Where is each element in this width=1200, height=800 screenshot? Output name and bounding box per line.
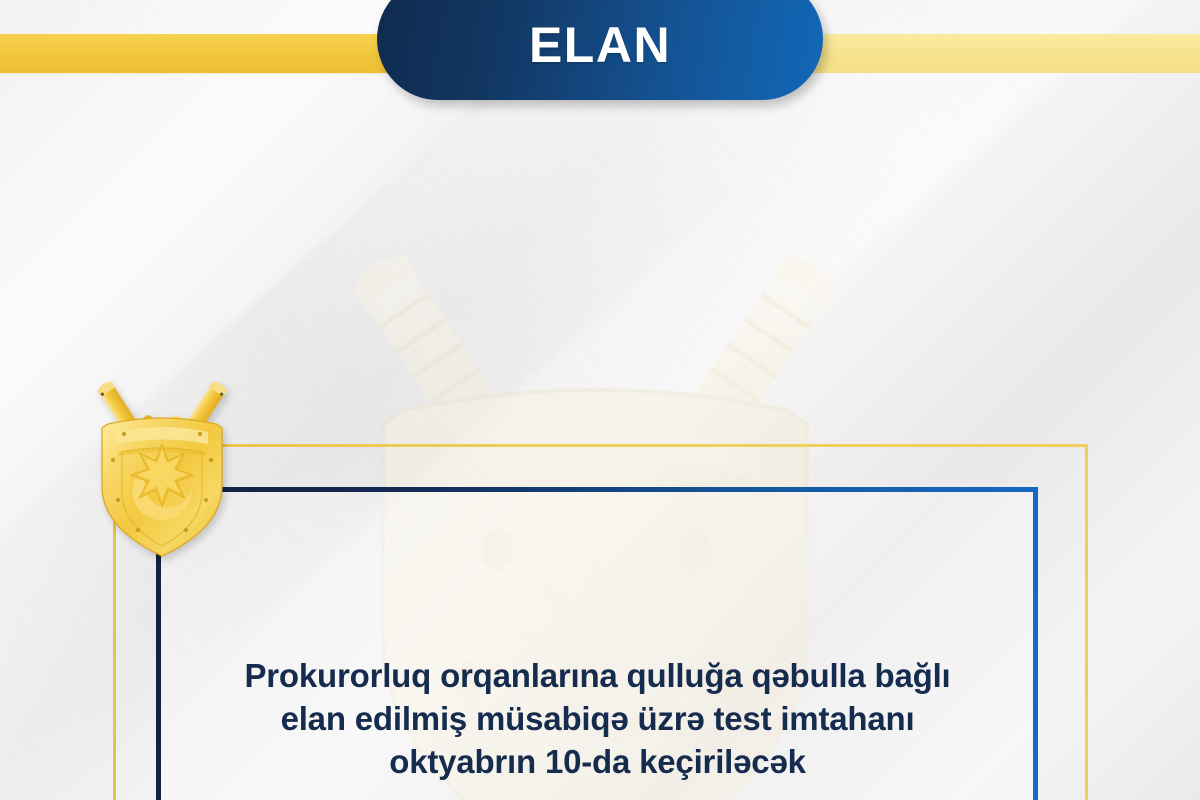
- headline-line-1: Prokurorluq orqanlarına qulluğa qəbulla …: [170, 655, 1025, 698]
- announcement-poster: ELAN: [0, 0, 1200, 800]
- prosecutor-shield-emblem-icon: [78, 360, 246, 570]
- elan-badge-label: ELAN: [529, 20, 671, 100]
- elan-badge: ELAN: [377, 0, 823, 100]
- headline-line-2: elan edilmiş müsabiqə üzrə test imtahanı: [170, 698, 1025, 741]
- headline-line-3: oktyabrın 10-da keçiriləcək: [170, 741, 1025, 784]
- headline: Prokurorluq orqanlarına qulluğa qəbulla …: [170, 655, 1025, 784]
- header-band-right: [780, 34, 1200, 73]
- header-band-left: [0, 34, 420, 73]
